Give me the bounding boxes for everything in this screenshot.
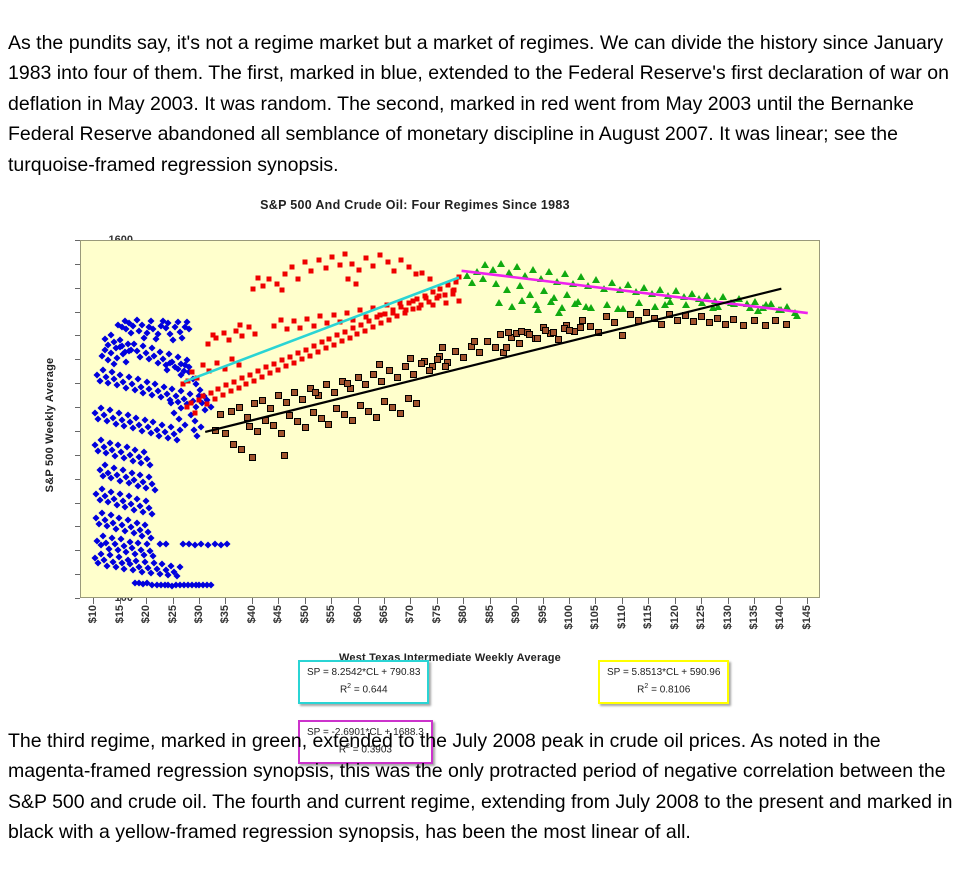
x-axis-tick-mark	[728, 598, 729, 604]
x-axis-tick-label: $105	[589, 605, 601, 629]
regression-r2: R2 = 0.8106	[607, 680, 720, 697]
regression-r2: R2 = 0.644	[307, 680, 420, 697]
x-axis-tick-label: $90	[510, 605, 522, 623]
x-axis-tick-mark	[543, 598, 544, 604]
x-axis-tick-mark	[331, 598, 332, 604]
regression-box-yellow: SP = 5.8513*CL + 590.96 R2 = 0.8106	[598, 660, 729, 704]
x-axis-tick-label: $50	[299, 605, 311, 623]
regression-equation: SP = 8.2542*CL + 790.83	[307, 666, 420, 680]
x-axis-tick-label: $125	[695, 605, 707, 629]
x-axis-tick-mark	[225, 598, 226, 604]
x-axis-tick-mark	[252, 598, 253, 604]
x-axis-tick-label: $100	[563, 605, 575, 629]
x-axis-tick-mark	[490, 598, 491, 604]
x-axis-tick-label: $65	[378, 605, 390, 623]
x-axis-tick-mark	[675, 598, 676, 604]
x-axis-tick-mark	[305, 598, 306, 604]
x-axis-tick-label: $60	[352, 605, 364, 623]
x-axis-tick-mark	[569, 598, 570, 604]
chart-title: S&P 500 And Crude Oil: Four Regimes Sinc…	[0, 198, 830, 212]
x-axis-tick-mark	[516, 598, 517, 604]
trendline-black	[205, 289, 781, 432]
x-axis-tick-label: $25	[167, 605, 179, 623]
x-axis-tick-mark	[146, 598, 147, 604]
trendline-magenta	[462, 271, 808, 313]
x-axis-tick-mark	[278, 598, 279, 604]
x-axis-tick-label: $80	[457, 605, 469, 623]
x-axis-tick-label: $55	[325, 605, 337, 623]
x-axis-tick-mark	[780, 598, 781, 604]
x-axis-tick-label: $115	[642, 605, 654, 629]
x-axis-tick-label: $35	[219, 605, 231, 623]
x-axis-tick-mark	[648, 598, 649, 604]
x-axis-tick-label: $75	[431, 605, 443, 623]
regression-equation: SP = 5.8513*CL + 590.96	[607, 666, 720, 680]
x-axis-tick-label: $85	[484, 605, 496, 623]
x-axis-tick-label: $145	[801, 605, 813, 629]
y-axis-tick-mark	[75, 598, 80, 599]
regression-box-turquoise: SP = 8.2542*CL + 790.83 R2 = 0.644	[298, 660, 429, 704]
x-axis-tick-label: $15	[114, 605, 126, 623]
y-axis-label: S&P 500 Weekly Average	[44, 325, 56, 525]
x-axis-tick-label: $120	[669, 605, 681, 629]
x-axis-tick-mark	[173, 598, 174, 604]
x-axis-tick-label: $10	[87, 605, 99, 623]
x-axis-tick-mark	[93, 598, 94, 604]
x-axis-tick-mark	[410, 598, 411, 604]
x-axis-tick-label: $20	[140, 605, 152, 623]
x-axis-tick-mark	[622, 598, 623, 604]
scatter-chart: S&P 500 And Crude Oil: Four Regimes Sinc…	[0, 190, 958, 680]
plot-area	[80, 240, 820, 598]
x-axis-tick-label: $110	[616, 605, 628, 629]
x-axis-tick-label: $40	[246, 605, 258, 623]
x-axis-tick-mark	[595, 598, 596, 604]
x-axis-tick-label: $45	[272, 605, 284, 623]
x-axis-tick-label: $70	[404, 605, 416, 623]
conclusion-paragraph: The third regime, marked in green, exten…	[8, 726, 954, 848]
intro-paragraph: As the pundits say, it's not a regime ma…	[8, 28, 950, 181]
x-axis-tick-mark	[358, 598, 359, 604]
x-axis-tick-mark	[384, 598, 385, 604]
trendline-turquoise	[184, 278, 459, 382]
x-axis-tick-mark	[437, 598, 438, 604]
page-root: As the pundits say, it's not a regime ma…	[0, 0, 958, 872]
x-axis-tick-label: $135	[748, 605, 760, 629]
x-axis-tick-mark	[754, 598, 755, 604]
x-axis-tick-label: $30	[193, 605, 205, 623]
trendline-layer	[81, 241, 819, 597]
x-axis-tick-mark	[807, 598, 808, 604]
x-axis-tick-label: $140	[774, 605, 786, 629]
x-axis-tick-mark	[463, 598, 464, 604]
x-axis-tick-mark	[701, 598, 702, 604]
plot-inner	[81, 241, 819, 597]
x-axis-tick-label: $95	[537, 605, 549, 623]
x-axis-tick-mark	[199, 598, 200, 604]
x-axis-tick-mark	[120, 598, 121, 604]
x-axis-tick-label: $130	[722, 605, 734, 629]
